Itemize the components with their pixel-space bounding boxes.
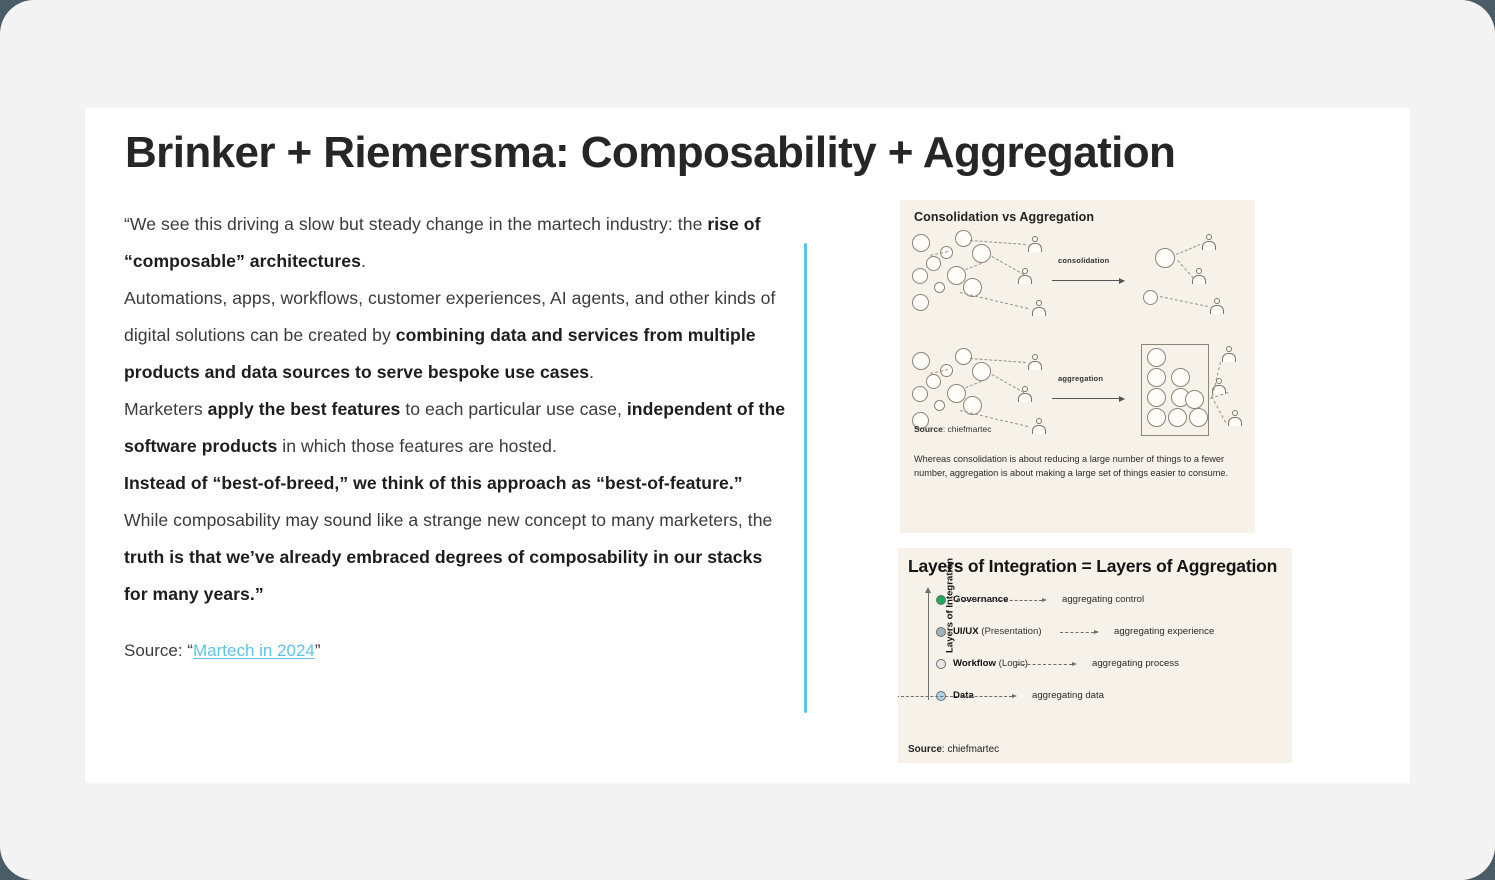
person-icon [1018,386,1033,403]
layer-aggregation-label: aggregating process [1092,656,1179,672]
layer-aggregation-label: aggregating control [1062,592,1144,608]
quote-paragraph-2: Automations, apps, workflows, customer e… [124,280,790,391]
layer-row: Workflow (Logic)aggregating process [936,656,1276,672]
aggregation-label: aggregation [1058,374,1103,383]
vertical-divider [804,243,807,713]
quote-paragraph-3: Marketers apply the best features to eac… [124,391,790,465]
connector-line [992,256,1024,275]
person-icon [1028,354,1043,371]
node-circle [955,348,972,365]
person-icon [1202,234,1217,251]
person-icon [1028,236,1043,253]
figure-1-source-value: : chiefmartec [943,424,992,434]
node-circle [1171,368,1190,387]
node-circle [926,374,941,389]
text-run: Instead of “best-of-breed,” we think of … [124,473,743,493]
figure-1-caption: Whereas consolidation is about reducing … [914,453,1244,480]
layer-name-strong: UI/UX [953,626,979,637]
text-run: . [589,362,594,382]
layer-dot-icon [936,627,946,637]
node-circle [912,386,928,402]
figure-2-axis-arrow-icon [928,592,929,700]
quote-paragraph-4: Instead of “best-of-breed,” we think of … [124,465,790,502]
figure-1-source: Source: chiefmartec [914,424,991,434]
person-icon [1192,268,1207,285]
text-run: apply the best features [208,399,401,419]
node-circle [955,230,972,247]
person-icon [1032,300,1047,317]
connector-line [966,261,986,270]
layer-dot-icon [936,659,946,669]
connector-line [1176,244,1200,255]
quote-body: “We see this driving a slow but steady c… [124,206,790,664]
quote-paragraph-5: While composability may sound like a str… [124,502,790,613]
node-circle [934,400,945,411]
consolidation-label: consolidation [1058,256,1109,265]
text-run: truth is that we’ve already embraced deg… [124,547,762,604]
layer-name-strong: Workflow [953,658,996,669]
layer-name-sub: (Presentation) [979,626,1042,637]
node-circle [1147,348,1166,367]
consolidation-arrow-icon [1052,280,1124,281]
node-circle [912,294,929,311]
node-circle [1185,390,1204,409]
node-circle [1147,388,1166,407]
connector-line [1160,296,1208,307]
node-circle [912,268,928,284]
figure-1-title: Consolidation vs Aggregation [914,210,1094,224]
node-circle [912,234,930,252]
figure-2-source-label: Source [908,744,942,755]
figure-2-source-value: : chiefmartec [942,744,999,755]
connector-line [992,374,1024,393]
layer-arrow-icon [1017,664,1072,665]
text-run: in which those features are hosted. [277,436,557,456]
slide-card: Brinker + Riemersma: Composability + Agg… [85,108,1410,783]
node-circle [1143,290,1158,305]
person-icon [1210,298,1225,315]
layer-row: Dataaggregating data [936,688,1276,704]
text-run: “We see this driving a slow but steady c… [124,214,707,234]
node-circle [972,244,991,263]
node-circle [912,352,930,370]
connector-line [1211,396,1226,422]
layer-aggregation-label: aggregating data [1032,688,1104,704]
aggregation-arrow-icon [1052,398,1124,399]
layer-row: UI/UX (Presentation)aggregating experien… [936,624,1276,640]
node-circle [1155,248,1175,268]
node-circle [972,362,991,381]
source-link[interactable]: Martech in 2024 [193,641,315,660]
person-icon [1018,268,1033,285]
text-run: Marketers [124,399,208,419]
figure-2-title: Layers of Integration = Layers of Aggreg… [908,556,1277,577]
slide-page: Brinker + Riemersma: Composability + Agg… [0,0,1495,880]
layer-arrow-icon [956,600,1042,601]
layer-dot-icon [936,595,946,605]
person-icon [1032,418,1047,435]
layer-aggregation-label: aggregating experience [1114,624,1214,640]
source-line: Source: “Martech in 2024” [124,638,790,664]
figure-1-source-label: Source [914,424,943,434]
text-run: to each particular use case, [400,399,626,419]
node-circle [926,256,941,271]
layer-arrow-icon [898,696,1012,697]
node-circle [934,282,945,293]
layer-row: Governanceaggregating control [936,592,1276,608]
figure-layers-of-integration: Layers of Integration = Layers of Aggreg… [898,548,1292,763]
quote-paragraph-1: “We see this driving a slow but steady c… [124,206,790,280]
person-icon [1222,346,1237,363]
layer-arrow-icon [1060,632,1094,633]
page-title: Brinker + Riemersma: Composability + Agg… [125,128,1375,179]
text-run: While composability may sound like a str… [124,510,772,530]
figure-2-source: Source: chiefmartec [908,744,999,755]
person-icon [1228,410,1243,427]
figure-consolidation-vs-aggregation: Consolidation vs Aggregation consolidati… [900,200,1255,533]
node-circle [1147,368,1166,387]
source-prefix: Source: “ [124,641,193,660]
node-circle [1168,408,1187,427]
connector-line [966,379,986,388]
node-circle [1147,408,1166,427]
layer-name: UI/UX (Presentation) [953,624,1042,640]
node-circle [1189,408,1208,427]
text-run: . [361,251,366,271]
source-suffix: ” [315,641,321,660]
connector-line [960,292,1028,309]
